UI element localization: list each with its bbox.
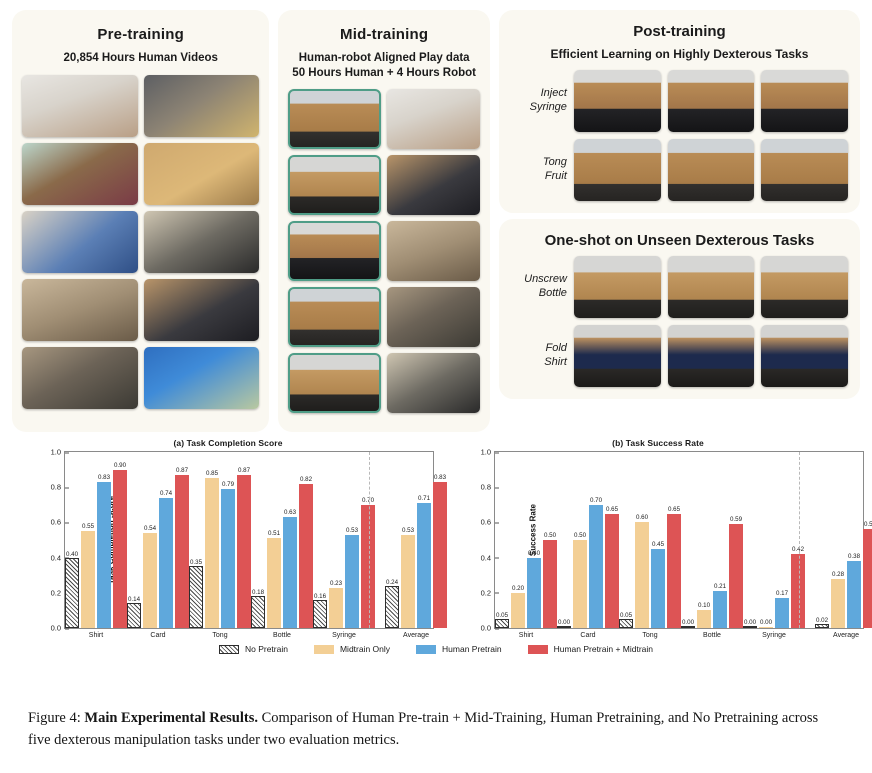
midtraining-human-photo: [387, 287, 480, 347]
training-stages-figure: Pre-training 20,854 Hours Human Videos M…: [0, 0, 872, 432]
bar-value-label: 0.20: [512, 585, 524, 592]
bar: 0.51: [267, 538, 281, 628]
midtraining-image-grid: [288, 89, 480, 413]
midtraining-human-photo: [387, 353, 480, 413]
legend-label: Midtrain Only: [340, 644, 390, 654]
chart-a-title: (a) Task Completion Score: [18, 438, 438, 448]
bar-value-label: 0.28: [832, 571, 844, 578]
bar: 0.53: [401, 535, 415, 628]
pretraining-photo: [22, 143, 138, 205]
y-axis-tick: 1.0: [481, 448, 495, 457]
x-axis-tick: Shirt: [519, 632, 533, 639]
bar: 0.00: [557, 626, 571, 628]
caption-bold: Main Experimental Results.: [84, 710, 258, 726]
pretraining-photo: [144, 347, 260, 409]
average-separator: [799, 452, 800, 628]
posttraining-card-efficient-learning: Post-training Efficient Learning on High…: [499, 10, 860, 213]
posttraining-card-one-shot: One-shot on Unseen Dexterous Tasks Unscr…: [499, 219, 860, 399]
bar: 0.14: [127, 603, 141, 628]
bar-group-shirt: 0.400.550.830.90Shirt: [65, 452, 127, 628]
x-axis-tick: Average: [833, 632, 859, 639]
bar: 0.50: [543, 540, 557, 628]
bar: 0.53: [345, 535, 359, 628]
pretraining-photo: [144, 143, 260, 205]
task-label-line2: Shirt: [511, 356, 567, 370]
bar-group-shirt: 0.050.200.400.50Shirt: [495, 452, 557, 628]
bar: 0.16: [313, 600, 327, 628]
pretraining-subtitle: 20,854 Hours Human Videos: [63, 51, 217, 66]
bar: 0.59: [729, 524, 743, 628]
task-row-label: Fold Shirt: [511, 342, 567, 370]
bar-value-label: 0.05: [620, 612, 632, 619]
bar-value-label: 0.60: [636, 514, 648, 521]
bar-value-label: 0.10: [698, 602, 710, 609]
bar: 0.00: [743, 626, 757, 628]
bar: 0.63: [283, 517, 297, 628]
bar: 0.60: [635, 522, 649, 628]
legend-label: Human Pretrain: [442, 644, 502, 654]
bar-value-label: 0.74: [160, 490, 172, 497]
y-axis-tick: 0.0: [481, 624, 495, 633]
pretraining-title: Pre-training: [97, 26, 184, 43]
bar: 0.56: [863, 529, 872, 628]
task-label-line2: Syringe: [511, 101, 567, 115]
midtraining-human-photo: [387, 155, 480, 215]
panel-pretraining: Pre-training 20,854 Hours Human Videos: [12, 10, 269, 432]
task-frame: [574, 325, 661, 387]
legend-item[interactable]: Human Pretrain + Midtrain: [528, 644, 653, 654]
bar-value-label: 0.53: [346, 527, 358, 534]
x-axis-tick: Average: [403, 632, 429, 639]
task-label-line1: Unscrew: [511, 273, 567, 287]
bar: 0.00: [759, 627, 773, 628]
bar: 0.10: [697, 610, 711, 628]
bar-group-bottle: 0.180.510.630.82Bottle: [251, 452, 313, 628]
x-axis-tick: Card: [580, 632, 595, 639]
bar-value-label: 0.85: [206, 470, 218, 477]
bar-value-label: 0.00: [760, 619, 772, 626]
bar-value-label: 0.00: [558, 619, 570, 626]
bar-value-label: 0.14: [128, 596, 140, 603]
bar: 0.17: [775, 598, 789, 628]
legend-label: No Pretrain: [245, 644, 288, 654]
bar: 0.45: [651, 549, 665, 628]
pretraining-photo: [22, 279, 138, 341]
bar: 0.82: [299, 484, 313, 628]
bar-value-label: 0.24: [386, 579, 398, 586]
bar-value-label: 0.21: [714, 583, 726, 590]
bar: 0.00: [681, 626, 695, 628]
x-axis-tick: Card: [150, 632, 165, 639]
task-row-tong-fruit: Tong Fruit: [511, 139, 848, 201]
bar-value-label: 0.17: [776, 590, 788, 597]
task-frame: [668, 139, 755, 201]
midtraining-human-photo: [387, 89, 480, 149]
bar: 0.74: [159, 498, 173, 628]
chart-task-success-rate: (b) Task Success Rate Task Success Rate …: [448, 432, 868, 629]
posttraining-card2-title: One-shot on Unseen Dexterous Tasks: [511, 232, 848, 249]
bar: 0.65: [667, 514, 681, 628]
x-axis-tick: Bottle: [273, 632, 291, 639]
bar-value-label: 0.35: [190, 559, 202, 566]
y-axis-tick: 0.8: [51, 483, 65, 492]
task-label-line2: Bottle: [511, 287, 567, 301]
bar-value-label: 0.83: [98, 474, 110, 481]
bar-value-label: 0.18: [252, 589, 264, 596]
legend-swatch: [416, 645, 436, 654]
bar: 0.38: [847, 561, 861, 628]
y-axis-tick: 0.4: [481, 553, 495, 562]
midtraining-subtitle: Human-robot Aligned Play data 50 Hours H…: [292, 51, 476, 80]
legend-swatch: [219, 645, 239, 654]
bar-value-label: 0.02: [816, 617, 828, 624]
bar-value-label: 0.63: [284, 509, 296, 516]
bar-value-label: 0.50: [544, 532, 556, 539]
bar-value-label: 0.51: [268, 530, 280, 537]
posttraining-card1-subtitle: Efficient Learning on Highly Dexterous T…: [511, 47, 848, 61]
bar-value-label: 0.50: [574, 532, 586, 539]
bar-value-label: 0.83: [434, 474, 446, 481]
pretraining-photo: [22, 211, 138, 273]
bar: 0.90: [113, 470, 127, 628]
bar: 0.83: [433, 482, 447, 628]
bar-value-label: 0.00: [682, 619, 694, 626]
bar: 0.21: [713, 591, 727, 628]
task-frame-strip: [574, 325, 848, 387]
bar-groups: 0.400.550.830.90Shirt0.140.540.740.87Car…: [65, 452, 433, 628]
bar-value-label: 0.59: [730, 516, 742, 523]
bar-value-label: 0.65: [668, 506, 680, 513]
bar-value-label: 0.38: [848, 553, 860, 560]
task-row-label: Inject Syringe: [511, 87, 567, 115]
midtraining-robot-photo: [288, 155, 381, 215]
bar: 0.85: [205, 478, 219, 628]
bar: 0.83: [97, 482, 111, 628]
task-frame: [761, 139, 848, 201]
midtraining-human-photo: [387, 221, 480, 281]
bar-value-label: 0.45: [652, 541, 664, 548]
bar-value-label: 0.23: [330, 580, 342, 587]
task-row-label: Unscrew Bottle: [511, 273, 567, 301]
bar-value-label: 0.79: [222, 481, 234, 488]
task-frame: [761, 70, 848, 132]
task-row-unscrew-bottle: Unscrew Bottle: [511, 256, 848, 318]
chart-b-title: (b) Task Success Rate: [448, 438, 868, 448]
y-axis-tick: 0.2: [51, 588, 65, 597]
task-frame: [574, 139, 661, 201]
bar: 0.02: [815, 624, 829, 628]
bar: 0.18: [251, 596, 265, 628]
pretraining-photo: [144, 279, 260, 341]
bar: 0.40: [65, 558, 79, 628]
bar-value-label: 0.05: [496, 612, 508, 619]
bar-value-label: 0.70: [362, 497, 374, 504]
midtraining-robot-photo: [288, 89, 381, 149]
bar-group-average: 0.240.530.710.83Average: [385, 452, 447, 628]
bar-value-label: 0.90: [114, 462, 126, 469]
midtraining-subtitle-line1: Human-robot Aligned Play data: [292, 51, 476, 66]
posttraining-title: Post-training: [511, 23, 848, 40]
task-label-line1: Tong: [511, 156, 567, 170]
bar: 0.28: [831, 579, 845, 628]
midtraining-robot-photo: [288, 353, 381, 413]
panel-midtraining: Mid-training Human-robot Aligned Play da…: [278, 10, 490, 432]
bar: 0.71: [417, 503, 431, 628]
bar: 0.42: [791, 554, 805, 628]
bar: 0.70: [589, 505, 603, 628]
bar-value-label: 0.82: [300, 476, 312, 483]
task-label-line1: Inject: [511, 87, 567, 101]
task-row-fold-shirt: Fold Shirt: [511, 325, 848, 387]
x-axis-tick: Tong: [642, 632, 657, 639]
x-axis-tick: Shirt: [89, 632, 103, 639]
bar: 0.54: [143, 533, 157, 628]
y-axis-tick: 0.0: [51, 624, 65, 633]
bar-group-syringe: 0.160.230.530.70Syringe: [313, 452, 375, 628]
bar-group-syringe: 0.000.000.170.42Syringe: [743, 452, 805, 628]
task-frame-strip: [574, 139, 848, 201]
bar: 0.23: [329, 588, 343, 628]
task-label-line2: Fruit: [511, 170, 567, 184]
figure-caption: Figure 4: Main Experimental Results. Com…: [28, 708, 844, 752]
midtraining-robot-photo: [288, 221, 381, 281]
bar-value-label: 0.56: [864, 521, 872, 528]
task-row-inject-syringe: Inject Syringe: [511, 70, 848, 132]
results-charts: (a) Task Completion Score Task Completio…: [0, 432, 872, 677]
bar: 0.20: [511, 593, 525, 628]
midtraining-robot-photo: [288, 287, 381, 347]
chart-b-plot-area: Task Success Rate 0.00.20.40.60.81.00.05…: [494, 451, 864, 629]
bar: 0.05: [619, 619, 633, 628]
task-frame: [574, 256, 661, 318]
chart-task-completion-score: (a) Task Completion Score Task Completio…: [18, 432, 438, 629]
bar-value-label: 0.70: [590, 497, 602, 504]
bar-groups: 0.050.200.400.50Shirt0.000.500.700.65Car…: [495, 452, 863, 628]
bar: 0.05: [495, 619, 509, 628]
task-frame: [761, 325, 848, 387]
legend-label: Human Pretrain + Midtrain: [554, 644, 653, 654]
bar: 0.55: [81, 531, 95, 628]
task-row-label: Tong Fruit: [511, 156, 567, 184]
bar-value-label: 0.54: [144, 525, 156, 532]
y-axis-tick: 0.2: [481, 588, 495, 597]
x-axis-tick: Bottle: [703, 632, 721, 639]
legend-swatch: [528, 645, 548, 654]
y-axis-tick: 0.8: [481, 483, 495, 492]
legend-item[interactable]: No Pretrain: [219, 644, 288, 654]
bar-group-card: 0.000.500.700.65Card: [557, 452, 619, 628]
chart-legend: No PretrainMidtrain OnlyHuman PretrainHu…: [0, 644, 872, 654]
bar-group-bottle: 0.000.100.210.59Bottle: [681, 452, 743, 628]
y-axis-tick: 0.4: [51, 553, 65, 562]
chart-a-plot-area: Task Completion Score 0.00.20.40.60.81.0…: [64, 451, 434, 629]
bar-group-tong: 0.350.850.790.87Tong: [189, 452, 251, 628]
task-frame: [668, 70, 755, 132]
bar: 0.65: [605, 514, 619, 628]
bar-value-label: 0.40: [66, 551, 78, 558]
y-axis-tick: 0.6: [51, 518, 65, 527]
task-label-line1: Fold: [511, 342, 567, 356]
bar-group-tong: 0.050.600.450.65Tong: [619, 452, 681, 628]
bar-value-label: 0.00: [744, 619, 756, 626]
bar: 0.87: [175, 475, 189, 628]
legend-swatch: [314, 645, 334, 654]
bar-value-label: 0.40: [528, 550, 540, 557]
pretraining-photo: [144, 211, 260, 273]
bar: 0.24: [385, 586, 399, 628]
bar-value-label: 0.53: [402, 527, 414, 534]
x-axis-tick: Syringe: [762, 632, 786, 639]
bar-group-card: 0.140.540.740.87Card: [127, 452, 189, 628]
panel-posttraining: Post-training Efficient Learning on High…: [499, 10, 860, 432]
y-axis-tick: 1.0: [51, 448, 65, 457]
task-frame: [574, 70, 661, 132]
bar-value-label: 0.42: [792, 546, 804, 553]
bar: 0.35: [189, 566, 203, 628]
bar-value-label: 0.87: [238, 467, 250, 474]
caption-prefix: Figure 4:: [28, 710, 84, 726]
pretraining-image-grid: [22, 75, 259, 409]
bar: 0.87: [237, 475, 251, 628]
y-axis-tick: 0.6: [481, 518, 495, 527]
midtraining-title: Mid-training: [340, 26, 428, 43]
bar: 0.79: [221, 489, 235, 628]
task-frame: [668, 256, 755, 318]
bar: 0.40: [527, 558, 541, 628]
bar: 0.70: [361, 505, 375, 628]
task-frame: [761, 256, 848, 318]
x-axis-tick: Syringe: [332, 632, 356, 639]
legend-item[interactable]: Human Pretrain: [416, 644, 502, 654]
midtraining-subtitle-line2: 50 Hours Human + 4 Hours Robot: [292, 66, 476, 81]
x-axis-tick: Tong: [212, 632, 227, 639]
pretraining-photo: [144, 75, 260, 137]
bar-value-label: 0.87: [176, 467, 188, 474]
pretraining-photo: [22, 75, 138, 137]
bar-value-label: 0.55: [82, 523, 94, 530]
task-frame-strip: [574, 256, 848, 318]
bar-value-label: 0.65: [606, 506, 618, 513]
bar: 0.50: [573, 540, 587, 628]
task-frame: [668, 325, 755, 387]
bar-group-average: 0.020.280.380.56Average: [815, 452, 872, 628]
task-frame-strip: [574, 70, 848, 132]
bar-value-label: 0.16: [314, 593, 326, 600]
legend-item[interactable]: Midtrain Only: [314, 644, 390, 654]
average-separator: [369, 452, 370, 628]
bar-value-label: 0.71: [418, 495, 430, 502]
pretraining-photo: [22, 347, 138, 409]
